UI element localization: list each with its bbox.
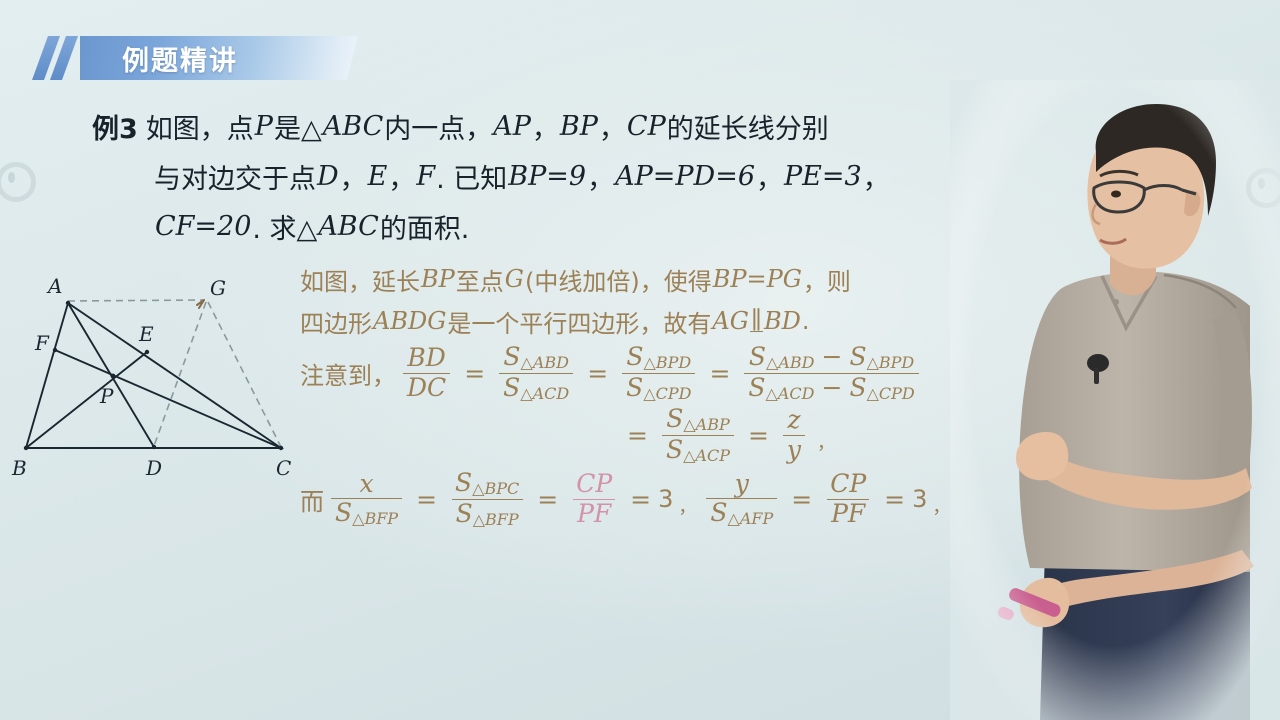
fraction-difference: S△ABD−S△BPD S△ACD−S△CPD bbox=[744, 344, 918, 402]
var-d: D bbox=[316, 161, 340, 192]
value-3: 3 bbox=[912, 485, 927, 513]
area-symbol: S bbox=[456, 499, 473, 528]
banner-title: 例题精讲 bbox=[122, 36, 238, 80]
problem-text: 内一点， bbox=[384, 107, 492, 146]
presenter-video bbox=[950, 80, 1280, 720]
equation-pe: PE=3 bbox=[783, 161, 863, 192]
fraction-numerator: S△BPD bbox=[622, 344, 695, 373]
area-symbol: S bbox=[626, 373, 643, 402]
header-banner: 例题精讲 bbox=[40, 36, 358, 80]
problem-text: . 已知 bbox=[436, 157, 507, 196]
problem-text: 的面积. bbox=[380, 207, 470, 246]
figure-label-g: G bbox=[210, 276, 226, 300]
solution-text: 四边形 bbox=[300, 304, 372, 339]
figure-label-a: A bbox=[46, 274, 62, 298]
figure-label-f: F bbox=[34, 331, 50, 355]
problem-text: ， bbox=[388, 157, 415, 196]
area-subscript: △ACD bbox=[766, 383, 815, 402]
equals-sign: = bbox=[627, 421, 648, 450]
var-bp: BP bbox=[420, 265, 456, 293]
solution-text: . bbox=[802, 307, 810, 335]
minus-sign: − bbox=[821, 373, 842, 402]
fraction-numerator: BD bbox=[403, 345, 449, 372]
solution-line-3: 注意到， BD DC = S△ABD S△ACD = S△BPD S△CPD =… bbox=[300, 342, 1000, 404]
value-3: 3 bbox=[658, 485, 673, 513]
equals-sign: = bbox=[587, 359, 608, 388]
area-subscript: △CPD bbox=[643, 383, 691, 402]
solution-block: 如图，延长 BP 至点 G (中线加倍)，使得 BP=PG ，则 四边形 ABD… bbox=[300, 258, 1000, 532]
figure-label-p: P bbox=[99, 384, 114, 408]
area-subscript: △ACP bbox=[683, 445, 730, 464]
solution-text: 是一个平行四边形，故有 bbox=[447, 304, 711, 339]
fraction-numerator: S△ABP bbox=[662, 406, 734, 435]
problem-statement: 例3 如图，点 P 是△ ABC 内一点， AP ， BP ， CP 的延长线分… bbox=[92, 101, 997, 251]
area-subscript: △AFP bbox=[728, 509, 774, 528]
equation-bp: BP=9 bbox=[507, 161, 587, 192]
var-bd: BD bbox=[763, 307, 802, 335]
problem-text: 与对边交于点 bbox=[154, 157, 316, 196]
area-subscript: △ABD bbox=[521, 353, 569, 372]
area-symbol: S bbox=[666, 404, 683, 433]
fraction-denominator: PF bbox=[827, 499, 869, 527]
problem-line-1: 例3 如图，点 P 是△ ABC 内一点， AP ， BP ， CP 的延长线分… bbox=[92, 101, 997, 151]
solution-line-5: 而 x S△BFP = S△BPC S△BFP = CP PF = 3 ， y … bbox=[300, 466, 1000, 532]
area-subscript: △BPD bbox=[644, 353, 692, 372]
equals-sign: = bbox=[537, 485, 558, 514]
solution-text: 至点 bbox=[456, 262, 504, 297]
area-subscript: △ABP bbox=[683, 415, 729, 434]
arrow-head-icon bbox=[197, 300, 204, 308]
var-bp: BP bbox=[559, 111, 599, 142]
fraction-denominator: S△BFP bbox=[452, 499, 523, 529]
area-symbol: S bbox=[626, 342, 643, 371]
area-subscript: △BFP bbox=[352, 509, 398, 528]
var-ap: AP bbox=[492, 111, 532, 142]
var-abc: ABC bbox=[317, 211, 380, 242]
fraction-cp-pf-2: CP PF bbox=[826, 471, 870, 527]
area-subscript: △ABD bbox=[766, 353, 814, 372]
fraction-cp-pf: CP PF bbox=[572, 471, 616, 527]
fraction-numerator: y bbox=[731, 471, 753, 498]
solution-text: ， bbox=[678, 493, 696, 519]
equation-cf: CF=20 bbox=[154, 211, 252, 242]
presenter-edge-blend bbox=[950, 80, 1280, 720]
construction-lines bbox=[68, 300, 281, 447]
problem-text: ， bbox=[587, 157, 614, 196]
equals-sign: = bbox=[709, 359, 730, 388]
area-symbol: S bbox=[849, 342, 866, 371]
equation-ap-pd: AP=PD=6 bbox=[614, 161, 756, 192]
slide-canvas: 例题精讲 例3 如图，点 P 是△ ABC 内一点， AP ， BP ， CP … bbox=[0, 0, 1280, 720]
fraction-denominator: S△ACP bbox=[662, 435, 734, 465]
area-symbol: S bbox=[748, 373, 765, 402]
fraction-numerator: z bbox=[783, 407, 804, 434]
var-f: F bbox=[415, 161, 436, 192]
fraction-denominator: DC bbox=[403, 373, 450, 401]
geometry-figure: A B C D E F G P bbox=[8, 268, 304, 490]
area-symbol: S bbox=[455, 468, 472, 497]
solution-text: 而 bbox=[300, 482, 324, 517]
fraction-sabp-sacp: S△ABP S△ACP bbox=[662, 406, 734, 464]
figure-label-b: B bbox=[11, 456, 27, 480]
watermark-left-icon bbox=[0, 162, 36, 202]
problem-text: ， bbox=[756, 157, 783, 196]
area-subscript: △BPC bbox=[472, 479, 519, 498]
fraction-bd-dc: BD DC bbox=[403, 345, 450, 401]
area-symbol: S bbox=[666, 435, 683, 464]
equals-sign: = bbox=[884, 485, 905, 514]
fraction-numerator: S△BPC bbox=[451, 470, 523, 499]
area-symbol: S bbox=[503, 373, 520, 402]
area-symbol: S bbox=[335, 498, 352, 527]
figure-label-e: E bbox=[138, 322, 154, 346]
fraction-denominator: S△ACD bbox=[499, 373, 573, 403]
area-subscript: △BFP bbox=[473, 509, 519, 528]
fraction-sbpd-scpd: S△BPD S△CPD bbox=[622, 344, 695, 402]
problem-text: ， bbox=[340, 157, 367, 196]
area-symbol: S bbox=[710, 498, 727, 527]
parallel-equal-icon: ∥ bbox=[750, 310, 763, 331]
problem-line-2: 与对边交于点 D ， E ， F . 已知 BP=9 ， AP=PD=6 ， P… bbox=[92, 151, 997, 201]
fraction-sbpc-sbfp: S△BPC S△BFP bbox=[451, 470, 523, 528]
fraction-y-safp: y S△AFP bbox=[706, 471, 777, 528]
solution-line-1: 如图，延长 BP 至点 G (中线加倍)，使得 BP=PG ，则 bbox=[300, 258, 1000, 300]
problem-text: . 求△ bbox=[252, 207, 317, 246]
equation-bp-pg: BP=PG bbox=[712, 265, 803, 293]
fraction-denominator: y bbox=[783, 435, 805, 463]
equals-sign: = bbox=[416, 485, 437, 514]
fraction-denominator: S△BFP bbox=[331, 498, 402, 528]
var-cp: CP bbox=[626, 111, 667, 142]
solution-line-4: = S△ABP S△ACP = z y ， bbox=[300, 404, 1000, 466]
equals-sign: = bbox=[630, 485, 651, 514]
equals-sign: = bbox=[791, 485, 812, 514]
solution-text: ， bbox=[817, 429, 835, 455]
solution-text: 注意到， bbox=[300, 356, 396, 391]
var-g: G bbox=[504, 265, 525, 293]
figure-label-d: D bbox=[145, 456, 162, 480]
problem-text: ， bbox=[599, 107, 626, 146]
var-e: E bbox=[367, 161, 389, 192]
area-subscript: △ACD bbox=[520, 383, 569, 402]
figure-label-c: C bbox=[276, 456, 291, 480]
fraction-sabd-sacd: S△ABD S△ACD bbox=[499, 344, 573, 402]
fraction-denominator: S△AFP bbox=[706, 498, 777, 528]
solution-line-2: 四边形 ABDG 是一个平行四边形，故有 AG ∥ BD . bbox=[300, 300, 1000, 342]
problem-tag: 例3 bbox=[92, 107, 138, 146]
area-subscript: △CPD bbox=[867, 383, 915, 402]
fraction-z-y: z y bbox=[783, 407, 805, 463]
solution-text: ，则 bbox=[803, 262, 851, 297]
solution-text: 如图，延长 bbox=[300, 262, 420, 297]
problem-line-3: CF=20 . 求△ ABC 的面积. bbox=[92, 201, 997, 251]
var-p: P bbox=[254, 111, 274, 142]
fraction-numerator: x bbox=[355, 471, 377, 498]
fraction-numerator: S△ABD−S△BPD bbox=[745, 344, 918, 373]
equals-sign: = bbox=[748, 421, 769, 450]
fraction-denominator: S△CPD bbox=[622, 373, 695, 403]
var-abc: ABC bbox=[322, 111, 385, 142]
area-symbol: S bbox=[749, 342, 766, 371]
minus-sign: − bbox=[821, 342, 842, 371]
area-symbol: S bbox=[503, 342, 520, 371]
fraction-x-sbfp: x S△BFP bbox=[331, 471, 402, 528]
fraction-denominator: PF bbox=[573, 499, 615, 527]
fraction-numerator: CP bbox=[572, 471, 616, 498]
var-ag: AG bbox=[711, 307, 750, 335]
solution-text: ， bbox=[932, 493, 950, 519]
area-subscript: △BPD bbox=[867, 353, 915, 372]
var-abdg: ABDG bbox=[372, 307, 447, 335]
problem-text: ， bbox=[863, 157, 890, 196]
problem-text: 如图，点 bbox=[146, 107, 254, 146]
fraction-numerator: S△ABD bbox=[499, 344, 573, 373]
problem-text: 的延长线分别 bbox=[667, 107, 829, 146]
fraction-denominator: S△ACD−S△CPD bbox=[744, 373, 918, 403]
equals-sign: = bbox=[464, 359, 485, 388]
fraction-numerator: CP bbox=[826, 471, 870, 498]
problem-text: ， bbox=[532, 107, 559, 146]
problem-text: 是△ bbox=[274, 107, 322, 146]
area-symbol: S bbox=[849, 373, 866, 402]
solution-text: (中线加倍)，使得 bbox=[525, 262, 712, 297]
figure-labels: A B C D E F G P bbox=[11, 274, 291, 480]
